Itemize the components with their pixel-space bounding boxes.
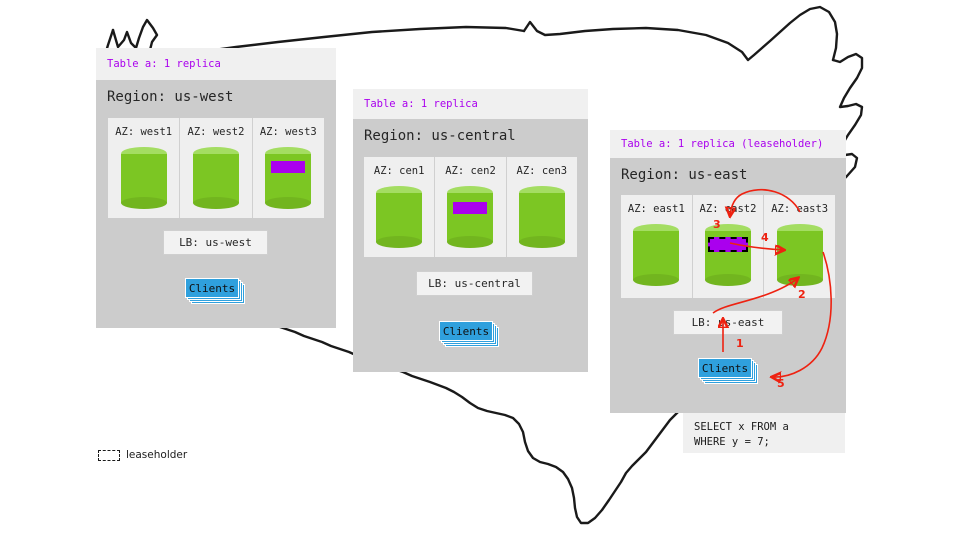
az-cell-cen3[interactable]: AZ: cen3 <box>506 157 577 257</box>
flow-step-number-3: 3 <box>713 218 721 231</box>
replica-block[interactable] <box>453 202 487 214</box>
clients-button[interactable]: Clients <box>698 358 752 378</box>
az-strip-us-east: AZ: east1 AZ: east2 AZ: east3 <box>621 195 835 298</box>
clients-us-east[interactable]: Clients <box>698 358 762 388</box>
clients-label: Clients <box>443 325 489 338</box>
cylinder-bottom-ellipse <box>376 236 422 248</box>
clients-us-west[interactable]: Clients <box>185 278 249 308</box>
az-label: AZ: east1 <box>628 203 685 215</box>
panel-header-us-east: Table a: 1 replica (leaseholder) <box>610 130 846 158</box>
flow-step-number-2: 2 <box>798 288 806 301</box>
az-cell-west3[interactable]: AZ: west3 <box>252 118 324 218</box>
cylinder-bottom-ellipse <box>193 197 239 209</box>
leaseholder-swatch-icon <box>98 450 120 461</box>
az-strip-us-west: AZ: west1 AZ: west2 AZ: west3 <box>108 118 324 218</box>
az-cell-cen1[interactable]: AZ: cen1 <box>364 157 434 257</box>
legend-label: leaseholder <box>126 449 187 461</box>
az-strip-us-central: AZ: cen1 AZ: cen2 AZ: cen3 <box>364 157 577 257</box>
clients-label: Clients <box>702 362 748 375</box>
cylinder-body <box>519 193 565 242</box>
cylinder-body <box>121 154 167 203</box>
az-cell-east3[interactable]: AZ: east3 <box>763 195 835 298</box>
cylinder-body <box>777 231 823 280</box>
replica-block[interactable] <box>271 161 305 173</box>
region-title-us-east: Region: us-east <box>610 158 846 191</box>
cylinder-bottom-ellipse <box>777 274 823 286</box>
cylinder-body <box>376 193 422 242</box>
region-title-us-west: Region: us-west <box>96 80 336 113</box>
az-cell-east1[interactable]: AZ: east1 <box>621 195 692 298</box>
region-panel-us-west: Table a: 1 replica Region: us-west AZ: w… <box>96 48 336 328</box>
panel-header-us-central: Table a: 1 replica <box>353 89 588 119</box>
az-label: AZ: cen3 <box>517 165 568 177</box>
cylinder-bottom-ellipse <box>633 274 679 286</box>
clients-us-central[interactable]: Clients <box>439 321 503 351</box>
panel-header-us-west: Table a: 1 replica <box>96 48 336 80</box>
az-label: AZ: cen1 <box>374 165 425 177</box>
flow-step-number-5: 5 <box>777 377 785 390</box>
lb-label: LB: us-west <box>179 236 252 249</box>
flow-step-number-1: 1 <box>736 337 744 350</box>
database-cylinder[interactable] <box>193 147 239 209</box>
replica-block-leaseholder[interactable] <box>708 237 748 252</box>
load-balancer-us-east[interactable]: LB: us-east <box>673 310 783 335</box>
database-cylinder[interactable] <box>519 186 565 248</box>
clients-label: Clients <box>189 282 235 295</box>
cylinder-bottom-ellipse <box>121 197 167 209</box>
az-cell-west1[interactable]: AZ: west1 <box>108 118 179 218</box>
cylinder-bottom-ellipse <box>447 236 493 248</box>
database-cylinder[interactable] <box>633 224 679 286</box>
replica-summary-label: Table a: 1 replica <box>96 58 221 70</box>
cylinder-body <box>193 154 239 203</box>
az-label: AZ: west2 <box>188 126 245 138</box>
database-cylinder[interactable] <box>447 186 493 248</box>
clients-button[interactable]: Clients <box>185 278 239 298</box>
lb-label: LB: us-east <box>692 316 765 329</box>
replica-summary-label: Table a: 1 replica <box>353 98 478 110</box>
az-cell-west2[interactable]: AZ: west2 <box>179 118 251 218</box>
az-label: AZ: east2 <box>700 203 757 215</box>
replica-summary-label: Table a: 1 replica (leaseholder) <box>610 138 823 150</box>
legend: leaseholder <box>98 449 187 461</box>
load-balancer-us-west[interactable]: LB: us-west <box>163 230 268 255</box>
region-title-us-central: Region: us-central <box>353 119 588 152</box>
az-label: AZ: west3 <box>260 126 317 138</box>
flow-step-number-4: 4 <box>761 231 769 244</box>
database-cylinder[interactable] <box>705 224 751 286</box>
load-balancer-us-central[interactable]: LB: us-central <box>416 271 533 296</box>
diagram-canvas: Table a: 1 replica Region: us-west AZ: w… <box>0 0 960 540</box>
cylinder-bottom-ellipse <box>705 274 751 286</box>
clients-button[interactable]: Clients <box>439 321 493 341</box>
region-panel-us-central: Table a: 1 replica Region: us-central AZ… <box>353 89 588 372</box>
az-label: AZ: east3 <box>771 203 828 215</box>
az-cell-east2[interactable]: AZ: east2 <box>692 195 764 298</box>
region-panel-us-east: Table a: 1 replica (leaseholder) Region:… <box>610 130 846 413</box>
sql-query-box[interactable]: SELECT x FROM a WHERE y = 7; <box>683 413 845 453</box>
az-label: AZ: west1 <box>115 126 172 138</box>
az-label: AZ: cen2 <box>445 165 496 177</box>
az-cell-cen2[interactable]: AZ: cen2 <box>434 157 505 257</box>
database-cylinder[interactable] <box>121 147 167 209</box>
cylinder-bottom-ellipse <box>519 236 565 248</box>
cylinder-bottom-ellipse <box>265 197 311 209</box>
database-cylinder[interactable] <box>376 186 422 248</box>
database-cylinder[interactable] <box>777 224 823 286</box>
cylinder-body <box>447 193 493 242</box>
database-cylinder[interactable] <box>265 147 311 209</box>
cylinder-body <box>633 231 679 280</box>
lb-label: LB: us-central <box>428 277 521 290</box>
